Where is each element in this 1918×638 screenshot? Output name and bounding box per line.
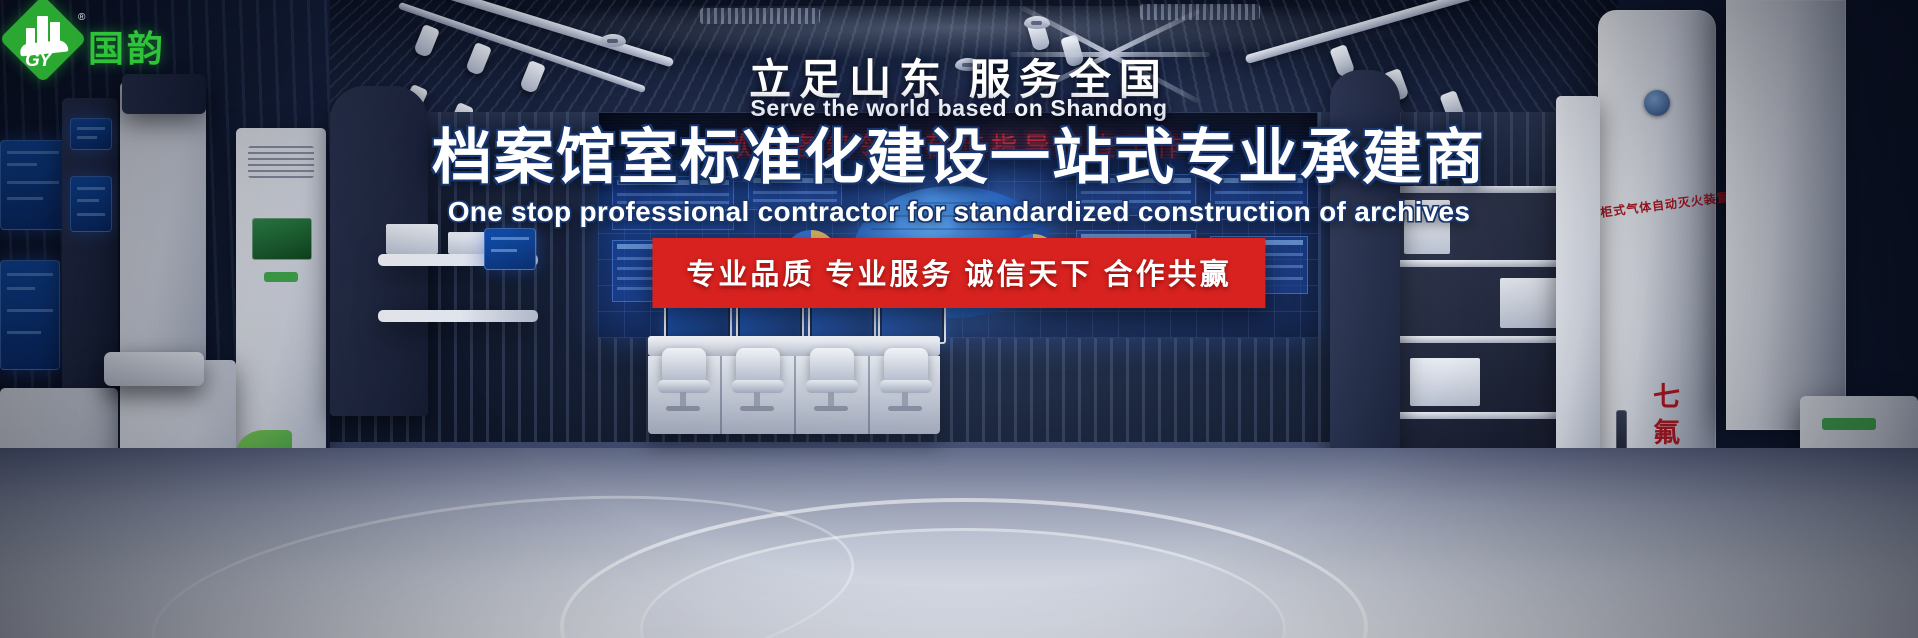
logo-building-icon: GY bbox=[12, 8, 74, 70]
hero-line-2-english: Serve the world based on Shandong bbox=[0, 95, 1918, 122]
hero-cta-banner[interactable]: 专业品质 专业服务 诚信天下 合作共赢 bbox=[652, 238, 1265, 308]
hero-banner: 欢迎各级领导莅临指导检查工作 bbox=[0, 0, 1918, 638]
logo-gy-text: GY bbox=[25, 50, 50, 72]
hero-subheadline-english: One stop professional contractor for sta… bbox=[0, 196, 1918, 228]
logo-company-name: 国韵 bbox=[88, 20, 166, 72]
registered-trademark-icon: ® bbox=[78, 12, 85, 23]
hero-headline: 档案馆室标准化建设一站式专业承建商 bbox=[0, 126, 1918, 189]
site-logo[interactable]: GY ® 国韵 bbox=[8, 6, 208, 72]
hero-cta-label: 专业品质 专业服务 诚信天下 合作共赢 bbox=[686, 259, 1231, 291]
hero-text-overlay: 立足山东 服务全国 Serve the world based on Shand… bbox=[0, 0, 1918, 638]
